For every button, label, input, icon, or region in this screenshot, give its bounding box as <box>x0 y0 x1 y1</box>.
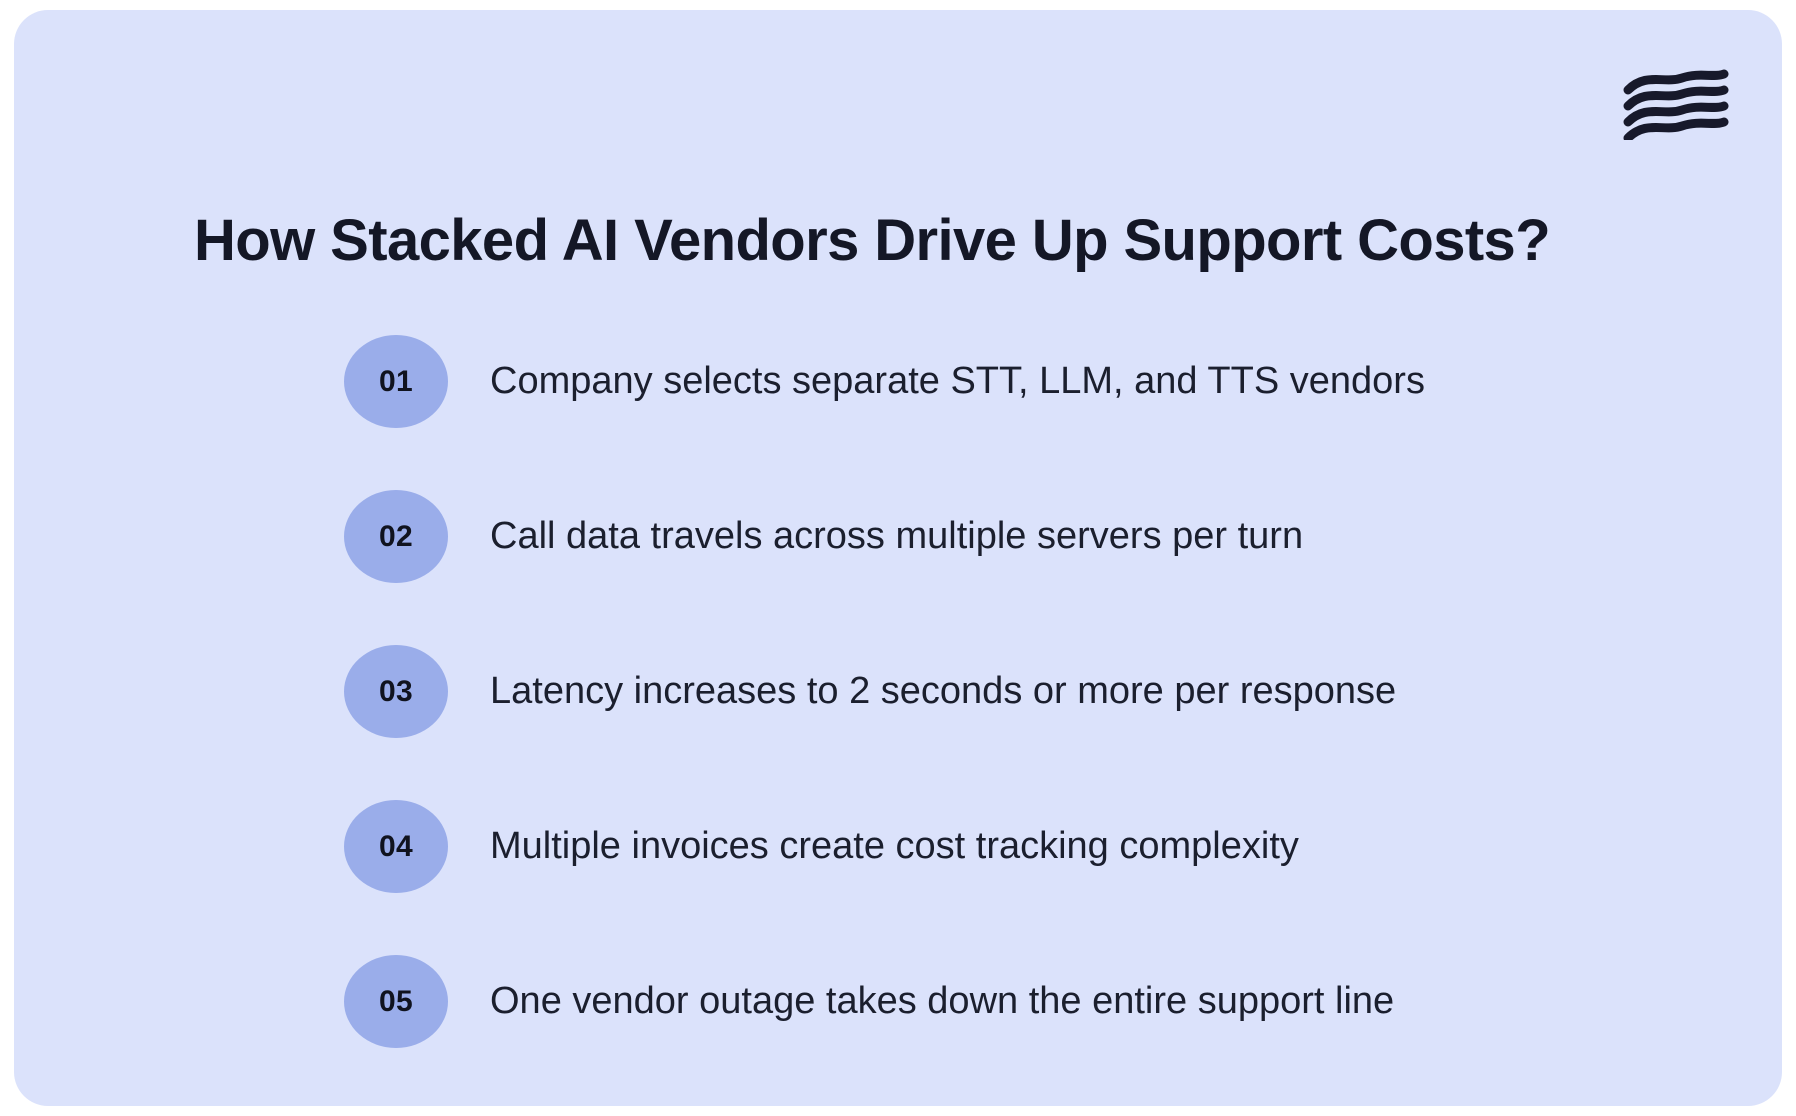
list-item: 04 Multiple invoices create cost trackin… <box>344 800 1674 893</box>
list-item: 03 Latency increases to 2 seconds or mor… <box>344 645 1674 738</box>
step-number-badge: 02 <box>344 490 448 583</box>
step-number-badge: 01 <box>344 335 448 428</box>
infographic-card: How Stacked AI Vendors Drive Up Support … <box>14 10 1782 1106</box>
step-label: Call data travels across multiple server… <box>490 513 1303 561</box>
step-label: Company selects separate STT, LLM, and T… <box>490 358 1425 406</box>
list-item: 01 Company selects separate STT, LLM, an… <box>344 335 1674 428</box>
step-number-badge: 04 <box>344 800 448 893</box>
step-label: Latency increases to 2 seconds or more p… <box>490 668 1396 716</box>
step-label: Multiple invoices create cost tracking c… <box>490 823 1299 871</box>
step-number-badge: 03 <box>344 645 448 738</box>
steps-list: 01 Company selects separate STT, LLM, an… <box>344 335 1674 1048</box>
step-number-badge: 05 <box>344 955 448 1048</box>
step-label: One vendor outage takes down the entire … <box>490 978 1394 1026</box>
wave-lines-logo-icon <box>1622 68 1730 140</box>
list-item: 02 Call data travels across multiple ser… <box>344 490 1674 583</box>
list-item: 05 One vendor outage takes down the enti… <box>344 955 1674 1048</box>
page-title: How Stacked AI Vendors Drive Up Support … <box>194 207 1674 275</box>
